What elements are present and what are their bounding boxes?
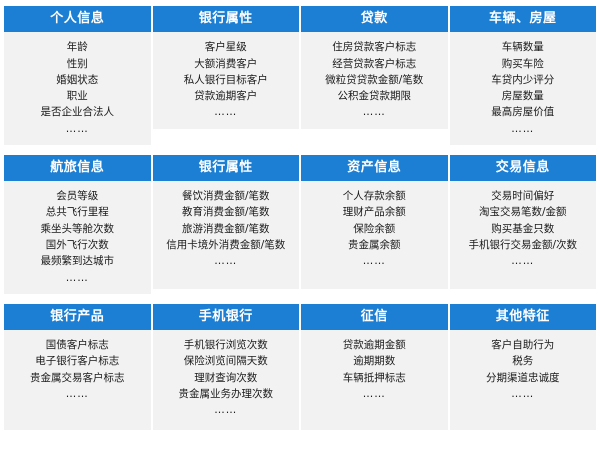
card-body: 客户自助行为 税务 分期渠道忠诚度 …… bbox=[450, 330, 597, 430]
list-item: 车辆数量 bbox=[453, 39, 594, 55]
card-asset-info: 资产信息 个人存款余额 理财产品余额 保险余额 贵金属余额 …… bbox=[301, 155, 448, 294]
list-item: 国外飞行次数 bbox=[7, 237, 148, 253]
card-title: 航旅信息 bbox=[4, 155, 151, 181]
list-item-ellipsis: …… bbox=[304, 386, 445, 402]
card-body: 年龄 性别 婚姻状态 职业 是否企业合法人 …… bbox=[4, 32, 151, 145]
list-item: 贷款逾期客户 bbox=[156, 88, 297, 104]
card-title: 银行产品 bbox=[4, 304, 151, 330]
feature-card-board: 个人信息 年龄 性别 婚姻状态 职业 是否企业合法人 …… 银行属性 客户星级 … bbox=[0, 0, 600, 460]
card-title: 交易信息 bbox=[450, 155, 597, 181]
list-item: 年龄 bbox=[7, 39, 148, 55]
list-item-ellipsis: …… bbox=[7, 121, 148, 137]
list-item-ellipsis: …… bbox=[304, 104, 445, 120]
list-item-ellipsis: …… bbox=[304, 253, 445, 269]
list-item: 贵金属交易客户标志 bbox=[7, 370, 148, 386]
list-item-ellipsis: …… bbox=[156, 253, 297, 269]
list-item: 个人存款余额 bbox=[304, 188, 445, 204]
list-item: 手机银行浏览次数 bbox=[156, 337, 297, 353]
list-item: 车贷内少评分 bbox=[453, 72, 594, 88]
card-title: 征信 bbox=[301, 304, 448, 330]
list-item: 公积金贷款期限 bbox=[304, 88, 445, 104]
list-item: 客户自助行为 bbox=[453, 337, 594, 353]
list-item: 信用卡境外消费金额/笔数 bbox=[156, 237, 297, 253]
card-body: 交易时间偏好 淘宝交易笔数/金额 购买基金只数 手机银行交易金额/次数 …… bbox=[450, 181, 597, 289]
list-item: 手机银行交易金额/次数 bbox=[453, 237, 594, 253]
list-item-ellipsis: …… bbox=[7, 270, 148, 286]
card-grid: 个人信息 年龄 性别 婚姻状态 职业 是否企业合法人 …… 银行属性 客户星级 … bbox=[0, 0, 600, 434]
card-credit-report: 征信 贷款逾期金额 逾期期数 车辆抵押标志 …… bbox=[301, 304, 448, 430]
list-item: 乘坐头等舱次数 bbox=[7, 221, 148, 237]
list-item: 微粒贷贷款金额/笔数 bbox=[304, 72, 445, 88]
card-body: 住房贷款客户标志 经营贷款客户标志 微粒贷贷款金额/笔数 公积金贷款期限 …… bbox=[301, 32, 448, 128]
list-item: 贷款逾期金额 bbox=[304, 337, 445, 353]
list-item-ellipsis: …… bbox=[453, 121, 594, 137]
list-item: 餐饮消费金额/笔数 bbox=[156, 188, 297, 204]
list-item: 最高房屋价值 bbox=[453, 104, 594, 120]
card-title: 其他特征 bbox=[450, 304, 597, 330]
list-item: 电子银行客户标志 bbox=[7, 353, 148, 369]
list-item: 大额消费客户 bbox=[156, 56, 297, 72]
card-body: 贷款逾期金额 逾期期数 车辆抵押标志 …… bbox=[301, 330, 448, 430]
card-other-features: 其他特征 客户自助行为 税务 分期渠道忠诚度 …… bbox=[450, 304, 597, 430]
list-item-ellipsis: …… bbox=[453, 386, 594, 402]
list-item: 国债客户标志 bbox=[7, 337, 148, 353]
list-item: 性别 bbox=[7, 56, 148, 72]
list-item-ellipsis: …… bbox=[156, 402, 297, 418]
card-body: 餐饮消费金额/笔数 教育消费金额/笔数 旅游消费金额/笔数 信用卡境外消费金额/… bbox=[153, 181, 300, 289]
list-item: 经营贷款客户标志 bbox=[304, 56, 445, 72]
list-item-ellipsis: …… bbox=[156, 104, 297, 120]
card-personal-info: 个人信息 年龄 性别 婚姻状态 职业 是否企业合法人 …… bbox=[4, 6, 151, 145]
list-item: 贵金属业务办理次数 bbox=[156, 386, 297, 402]
list-item: 房屋数量 bbox=[453, 88, 594, 104]
card-title: 个人信息 bbox=[4, 6, 151, 32]
list-item: 保险浏览间隔天数 bbox=[156, 353, 297, 369]
card-title: 贷款 bbox=[301, 6, 448, 32]
card-bank-attributes-2: 银行属性 餐饮消费金额/笔数 教育消费金额/笔数 旅游消费金额/笔数 信用卡境外… bbox=[153, 155, 300, 294]
card-bank-attributes-1: 银行属性 客户星级 大额消费客户 私人银行目标客户 贷款逾期客户 …… bbox=[153, 6, 300, 145]
card-body: 车辆数量 购买车险 车贷内少评分 房屋数量 最高房屋价值 …… bbox=[450, 32, 597, 145]
list-item-ellipsis: …… bbox=[453, 253, 594, 269]
list-item: 分期渠道忠诚度 bbox=[453, 370, 594, 386]
list-item: 逾期期数 bbox=[304, 353, 445, 369]
list-item: 职业 bbox=[7, 88, 148, 104]
list-item: 贵金属余额 bbox=[304, 237, 445, 253]
card-travel-info: 航旅信息 会员等级 总共飞行里程 乘坐头等舱次数 国外飞行次数 最频繁到达城市 … bbox=[4, 155, 151, 294]
card-transaction-info: 交易信息 交易时间偏好 淘宝交易笔数/金额 购买基金只数 手机银行交易金额/次数… bbox=[450, 155, 597, 294]
list-item: 理财查询次数 bbox=[156, 370, 297, 386]
list-item: 旅游消费金额/笔数 bbox=[156, 221, 297, 237]
list-item: 交易时间偏好 bbox=[453, 188, 594, 204]
list-item: 保险余额 bbox=[304, 221, 445, 237]
card-title: 手机银行 bbox=[153, 304, 300, 330]
list-item: 婚姻状态 bbox=[7, 72, 148, 88]
card-loan: 贷款 住房贷款客户标志 经营贷款客户标志 微粒贷贷款金额/笔数 公积金贷款期限 … bbox=[301, 6, 448, 145]
list-item: 最频繁到达城市 bbox=[7, 253, 148, 269]
card-body: 国债客户标志 电子银行客户标志 贵金属交易客户标志 …… bbox=[4, 330, 151, 430]
card-title: 车辆、房屋 bbox=[450, 6, 597, 32]
list-item: 购买基金只数 bbox=[453, 221, 594, 237]
list-item: 客户星级 bbox=[156, 39, 297, 55]
list-item: 会员等级 bbox=[7, 188, 148, 204]
list-item: 车辆抵押标志 bbox=[304, 370, 445, 386]
list-item: 总共飞行里程 bbox=[7, 204, 148, 220]
list-item: 住房贷款客户标志 bbox=[304, 39, 445, 55]
card-body: 会员等级 总共飞行里程 乘坐头等舱次数 国外飞行次数 最频繁到达城市 …… bbox=[4, 181, 151, 294]
card-body: 客户星级 大额消费客户 私人银行目标客户 贷款逾期客户 …… bbox=[153, 32, 300, 128]
list-item: 税务 bbox=[453, 353, 594, 369]
card-title: 资产信息 bbox=[301, 155, 448, 181]
list-item: 理财产品余额 bbox=[304, 204, 445, 220]
list-item: 教育消费金额/笔数 bbox=[156, 204, 297, 220]
card-body: 手机银行浏览次数 保险浏览间隔天数 理财查询次数 贵金属业务办理次数 …… bbox=[153, 330, 300, 430]
list-item: 购买车险 bbox=[453, 56, 594, 72]
list-item-ellipsis: …… bbox=[7, 386, 148, 402]
list-item: 私人银行目标客户 bbox=[156, 72, 297, 88]
card-body: 个人存款余额 理财产品余额 保险余额 贵金属余额 …… bbox=[301, 181, 448, 289]
card-bank-products: 银行产品 国债客户标志 电子银行客户标志 贵金属交易客户标志 …… bbox=[4, 304, 151, 430]
list-item: 是否企业合法人 bbox=[7, 104, 148, 120]
card-vehicle-housing: 车辆、房屋 车辆数量 购买车险 车贷内少评分 房屋数量 最高房屋价值 …… bbox=[450, 6, 597, 145]
card-title: 银行属性 bbox=[153, 6, 300, 32]
list-item: 淘宝交易笔数/金额 bbox=[453, 204, 594, 220]
card-title: 银行属性 bbox=[153, 155, 300, 181]
card-mobile-banking: 手机银行 手机银行浏览次数 保险浏览间隔天数 理财查询次数 贵金属业务办理次数 … bbox=[153, 304, 300, 430]
